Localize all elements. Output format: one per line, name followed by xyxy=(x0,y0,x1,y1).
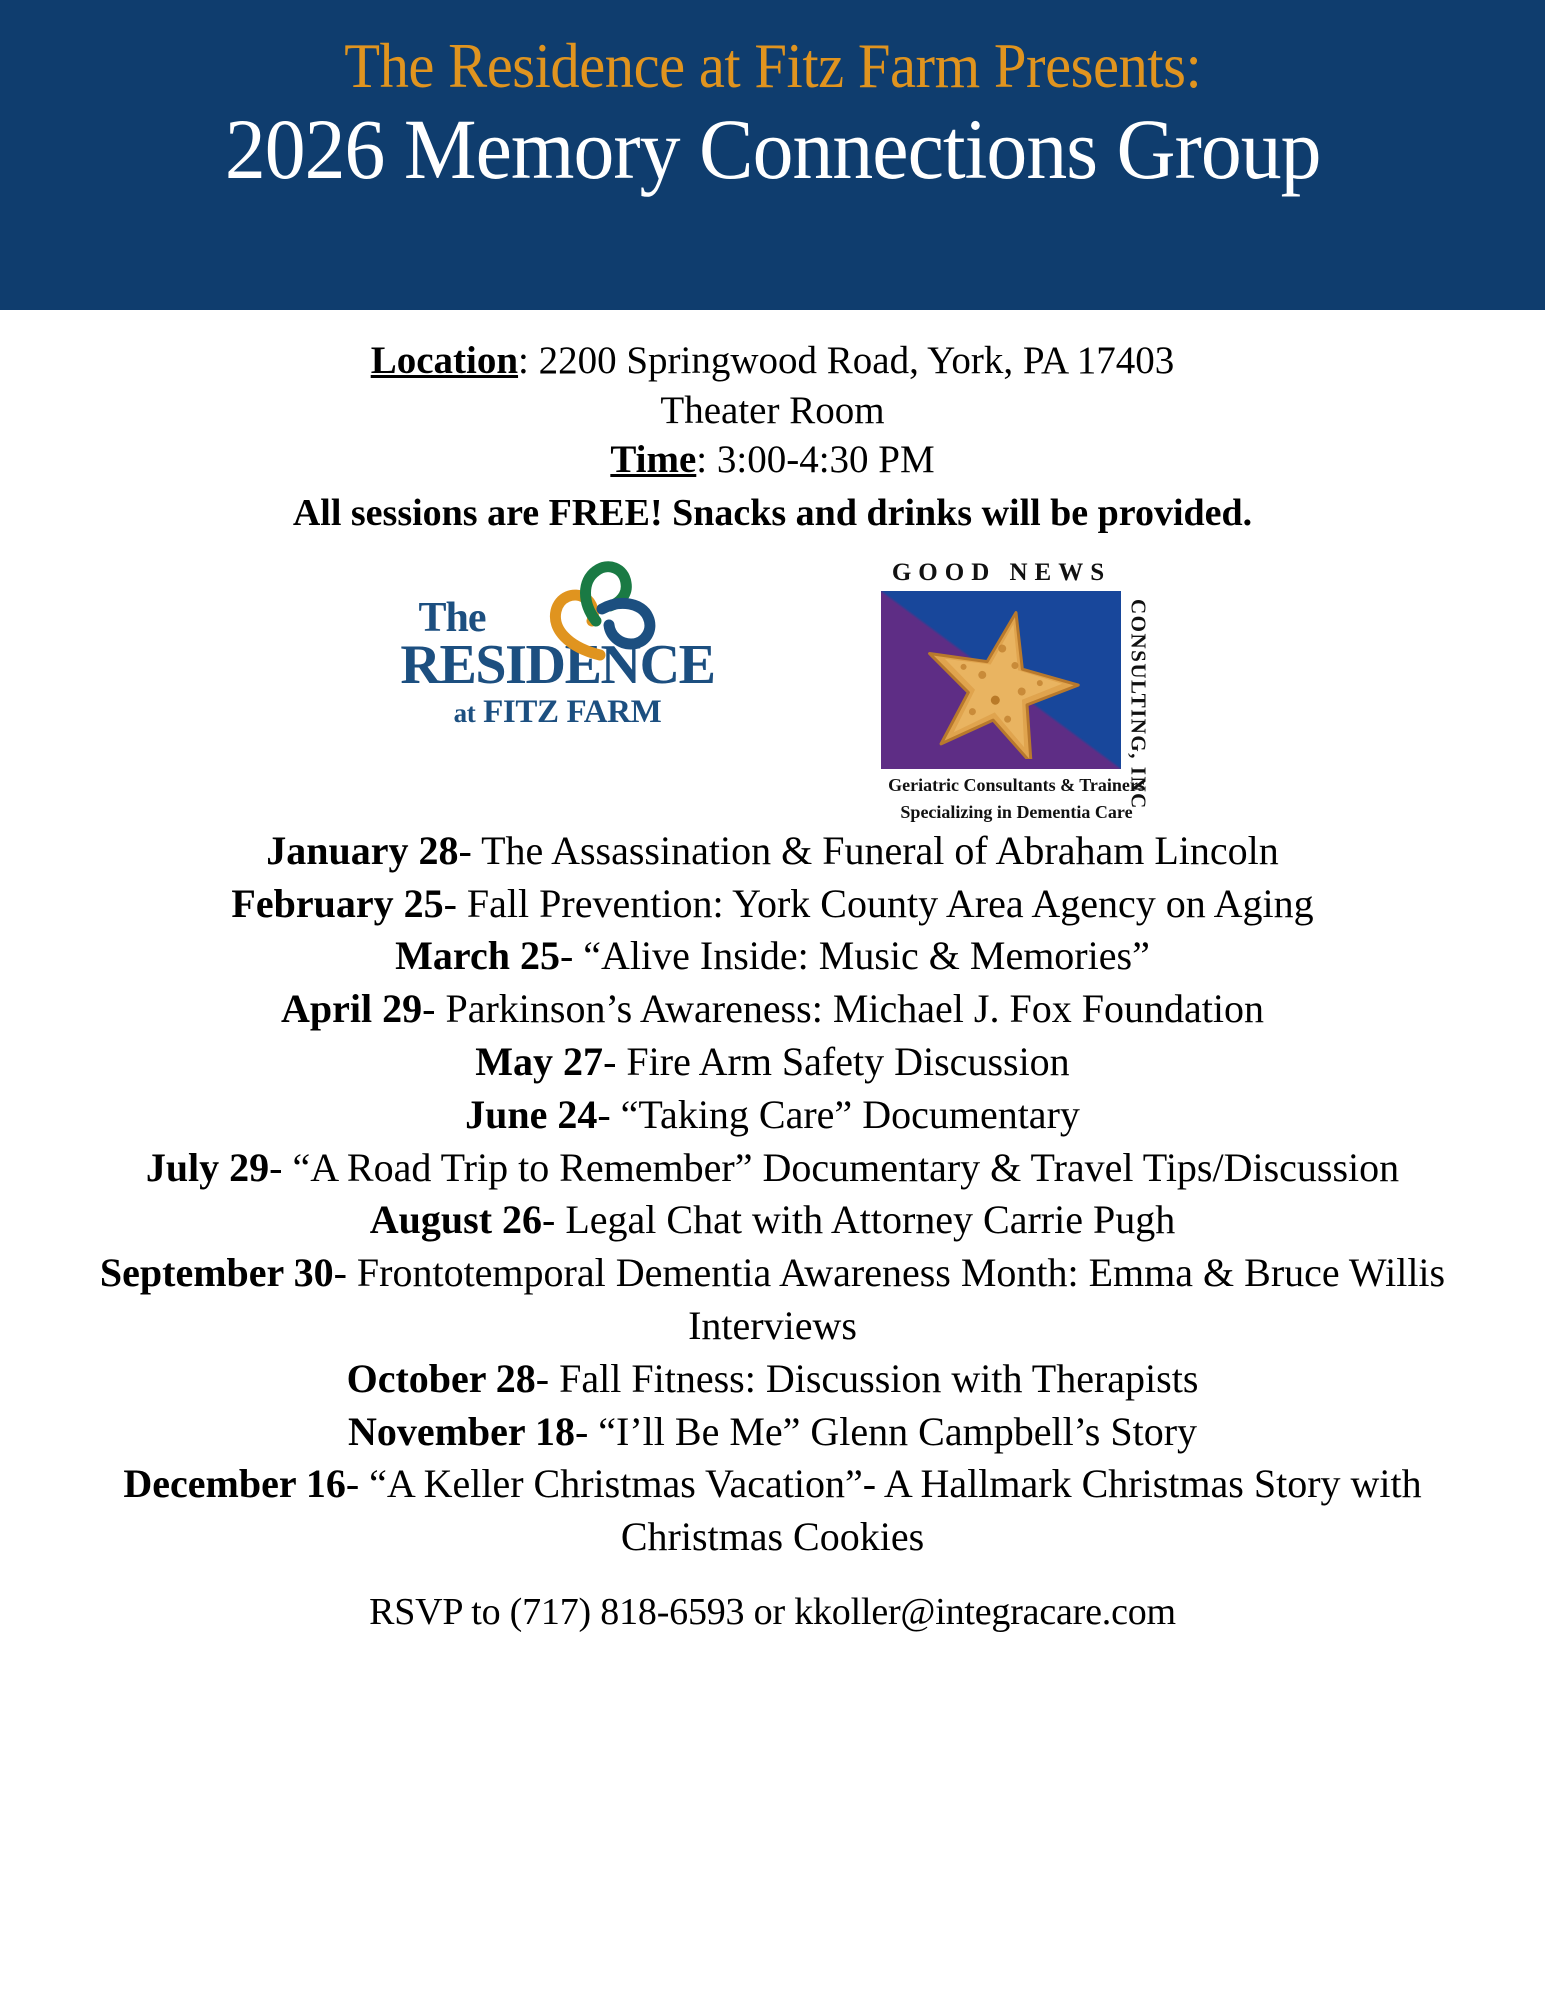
schedule-item-desc: - Fall Fitness: Discussion with Therapis… xyxy=(536,1356,1199,1401)
good-news-consulting-text: CONSULTING, INC xyxy=(1126,599,1151,810)
location-label: Location xyxy=(371,339,518,382)
good-news-box-wrap: CONSULTING, INC xyxy=(881,591,1121,769)
schedule-item-desc: - Parkinson’s Awareness: Michael J. Fox … xyxy=(422,986,1264,1031)
clover-icon xyxy=(538,559,658,664)
schedule-item: November 18- “I’ll Be Me” Glenn Campbell… xyxy=(40,1406,1505,1459)
schedule-item-desc: - “Alive Inside: Music & Memories” xyxy=(560,933,1150,978)
schedule-item-date: December 16 xyxy=(123,1461,346,1506)
schedule-item-date: October 28 xyxy=(347,1356,536,1401)
schedule-item-date: February 25 xyxy=(231,881,443,926)
schedule-item: December 16- “A Keller Christmas Vacatio… xyxy=(40,1458,1505,1564)
schedule-item: February 25- Fall Prevention: York Count… xyxy=(40,878,1505,931)
residence-logo: The RESIDENCE at FITZ FARM xyxy=(393,559,723,729)
residence-at-text: at xyxy=(454,698,476,728)
schedule-item-desc: - The Assassination & Funeral of Abraham… xyxy=(459,828,1279,873)
schedule-item-date: September 30 xyxy=(100,1250,334,1295)
schedule-item-desc: - Fire Arm Safety Discussion xyxy=(603,1039,1070,1084)
schedule-item: July 29- “A Road Trip to Remember” Docum… xyxy=(40,1142,1505,1195)
schedule-item-desc: - “Taking Care” Documentary xyxy=(597,1092,1080,1137)
schedule-item: May 27- Fire Arm Safety Discussion xyxy=(40,1036,1505,1089)
time-value: : 3:00-4:30 PM xyxy=(696,438,934,481)
schedule-item-desc: - “I’ll Be Me” Glenn Campbell’s Story xyxy=(575,1409,1197,1454)
rsvp-line: RSVP to (717) 818-6593 or kkoller@integr… xyxy=(0,1590,1545,1634)
schedule-item: September 30- Frontotemporal Dementia Aw… xyxy=(40,1247,1505,1353)
location-row: Location: 2200 Springwood Road, York, PA… xyxy=(0,336,1545,386)
residence-sub-text: at FITZ FARM xyxy=(393,696,723,729)
schedule-item-date: March 25 xyxy=(395,933,560,978)
location-value: : 2200 Springwood Road, York, PA 17403 xyxy=(518,339,1174,382)
schedule-item-date: November 18 xyxy=(348,1409,575,1454)
schedule-item-desc: - “A Keller Christmas Vacation”- A Hallm… xyxy=(346,1461,1422,1559)
room-row: Theater Room xyxy=(0,386,1545,436)
schedule-item: August 26- Legal Chat with Attorney Carr… xyxy=(40,1194,1505,1247)
good-news-title: GOOD NEWS xyxy=(851,559,1153,587)
logo-row: The RESIDENCE at FITZ FARM GOOD NEWS xyxy=(0,559,1545,809)
good-news-caption-line2: Specializing in Dementia Care xyxy=(881,802,1153,824)
schedule-item-desc: - “A Road Trip to Remember” Documentary … xyxy=(269,1145,1399,1190)
schedule-item: June 24- “Taking Care” Documentary xyxy=(40,1089,1505,1142)
free-sessions-note: All sessions are FREE! Snacks and drinks… xyxy=(0,489,1545,537)
event-info-block: Location: 2200 Springwood Road, York, PA… xyxy=(0,336,1545,537)
time-row: Time: 3:00-4:30 PM xyxy=(0,435,1545,485)
time-label: Time xyxy=(610,438,696,481)
schedule-item: October 28- Fall Fitness: Discussion wit… xyxy=(40,1353,1505,1406)
schedule-item: March 25- “Alive Inside: Music & Memorie… xyxy=(40,930,1505,983)
schedule-item-desc: - Fall Prevention: York County Area Agen… xyxy=(444,881,1314,926)
schedule-item-date: May 27 xyxy=(475,1039,603,1084)
schedule-item-desc: - Legal Chat with Attorney Carrie Pugh xyxy=(542,1197,1175,1242)
schedule-list: January 28- The Assassination & Funeral … xyxy=(0,825,1545,1564)
schedule-item-date: January 28 xyxy=(266,828,458,873)
schedule-item: January 28- The Assassination & Funeral … xyxy=(40,825,1505,878)
banner-title-line: 2026 Memory Connections Group xyxy=(225,104,1321,194)
banner-presents-line: The Residence at Fitz Farm Presents: xyxy=(344,34,1201,98)
schedule-item-date: April 29 xyxy=(281,986,422,1031)
schedule-item-date: July 29 xyxy=(146,1145,269,1190)
good-news-caption-line1: Geriatric Consultants & Trainers xyxy=(881,775,1153,797)
schedule-item-date: June 24 xyxy=(465,1092,597,1137)
header-banner: The Residence at Fitz Farm Presents: 202… xyxy=(0,0,1545,310)
good-news-logo: GOOD NEWS xyxy=(873,559,1153,824)
starfish-icon xyxy=(895,601,1107,759)
good-news-color-box xyxy=(881,591,1121,769)
residence-farm-text: FITZ FARM xyxy=(483,694,661,730)
schedule-item: April 29- Parkinson’s Awareness: Michael… xyxy=(40,983,1505,1036)
schedule-item-desc: - Frontotemporal Dementia Awareness Mont… xyxy=(334,1250,1446,1348)
schedule-item-date: August 26 xyxy=(370,1197,542,1242)
